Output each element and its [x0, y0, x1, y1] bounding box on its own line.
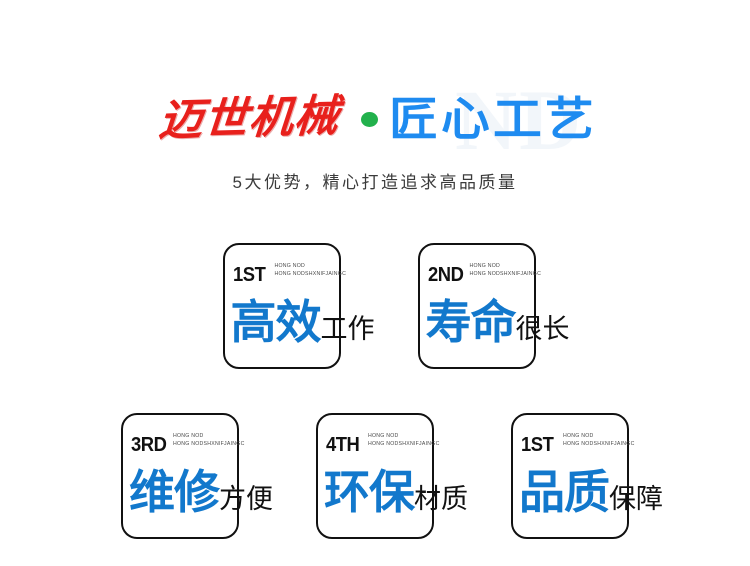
card-rank-label: 3RD	[131, 435, 166, 455]
card-highlight-text: 维修	[129, 469, 219, 515]
card-english-line-2: HONG NODSHXNIFJAINGC	[470, 271, 542, 279]
card-highlight-text: 高效	[231, 299, 321, 345]
card-headline: 维修 方便	[129, 469, 273, 522]
card-suffix-text: 材质	[414, 476, 468, 522]
card-rank-label: 1ST	[233, 265, 265, 285]
card-english-line-1: HONG NOD	[368, 433, 440, 441]
card-rank-label: 4TH	[326, 435, 359, 455]
card-headline: 品质 保障	[519, 469, 663, 522]
advantage-card: 2ND HONG NOD HONG NODSHXNIFJAINGC 寿命 很长	[418, 233, 538, 373]
card-english-line-1: HONG NOD	[275, 263, 347, 271]
card-english-caption: HONG NOD HONG NODSHXNIFJAINGC	[275, 263, 347, 278]
card-rank-label: 2ND	[428, 265, 463, 285]
advantage-card: 3RD HONG NOD HONG NODSHXNIFJAINGC 维修 方便	[121, 403, 241, 543]
card-english-caption: HONG NOD HONG NODSHXNIFJAINGC	[563, 433, 635, 448]
card-suffix-text: 工作	[321, 306, 375, 352]
header-banner: 迈世机械 匠心工艺	[0, 86, 750, 152]
card-english-caption: HONG NOD HONG NODSHXNIFJAINGC	[470, 263, 542, 278]
card-suffix-text: 很长	[516, 306, 570, 352]
advantage-row-bottom: 3RD HONG NOD HONG NODSHXNIFJAINGC 维修 方便 …	[0, 403, 750, 553]
card-highlight-text: 环保	[324, 469, 414, 515]
card-english-line-2: HONG NODSHXNIFJAINGC	[275, 271, 347, 279]
advantage-card: 1ST HONG NOD HONG NODSHXNIFJAINGC 品质 保障	[511, 403, 631, 543]
promo-page: ND 迈世机械 匠心工艺 5大优势，精心打造追求高品质量 1ST HONG NO…	[0, 0, 750, 566]
card-english-caption: HONG NOD HONG NODSHXNIFJAINGC	[368, 433, 440, 448]
card-headline: 高效 工作	[231, 299, 375, 352]
card-highlight-text: 品质	[519, 469, 609, 515]
brand-name: 迈世机械	[157, 95, 341, 144]
card-english-line-1: HONG NOD	[470, 263, 542, 271]
card-english-line-1: HONG NOD	[563, 433, 635, 441]
advantage-card: 1ST HONG NOD HONG NODSHXNIFJAINGC 高效 工作	[223, 233, 343, 373]
card-suffix-text: 保障	[609, 476, 663, 522]
card-suffix-text: 方便	[219, 476, 273, 522]
card-headline: 环保 材质	[324, 469, 468, 522]
card-english-line-1: HONG NOD	[173, 433, 245, 441]
green-dot-icon	[361, 112, 378, 127]
card-rank-label: 1ST	[521, 435, 553, 455]
brand-slogan: 匠心工艺	[389, 96, 597, 142]
advantage-row-top: 1ST HONG NOD HONG NODSHXNIFJAINGC 高效 工作 …	[0, 233, 750, 383]
card-english-line-2: HONG NODSHXNIFJAINGC	[368, 441, 440, 449]
card-english-caption: HONG NOD HONG NODSHXNIFJAINGC	[173, 433, 245, 448]
card-highlight-text: 寿命	[426, 299, 516, 345]
card-english-line-2: HONG NODSHXNIFJAINGC	[563, 441, 635, 449]
advantage-card: 4TH HONG NOD HONG NODSHXNIFJAINGC 环保 材质	[316, 403, 436, 543]
page-subtitle: 5大优势，精心打造追求高品质量	[0, 168, 750, 193]
card-headline: 寿命 很长	[426, 299, 570, 352]
card-english-line-2: HONG NODSHXNIFJAINGC	[173, 441, 245, 449]
